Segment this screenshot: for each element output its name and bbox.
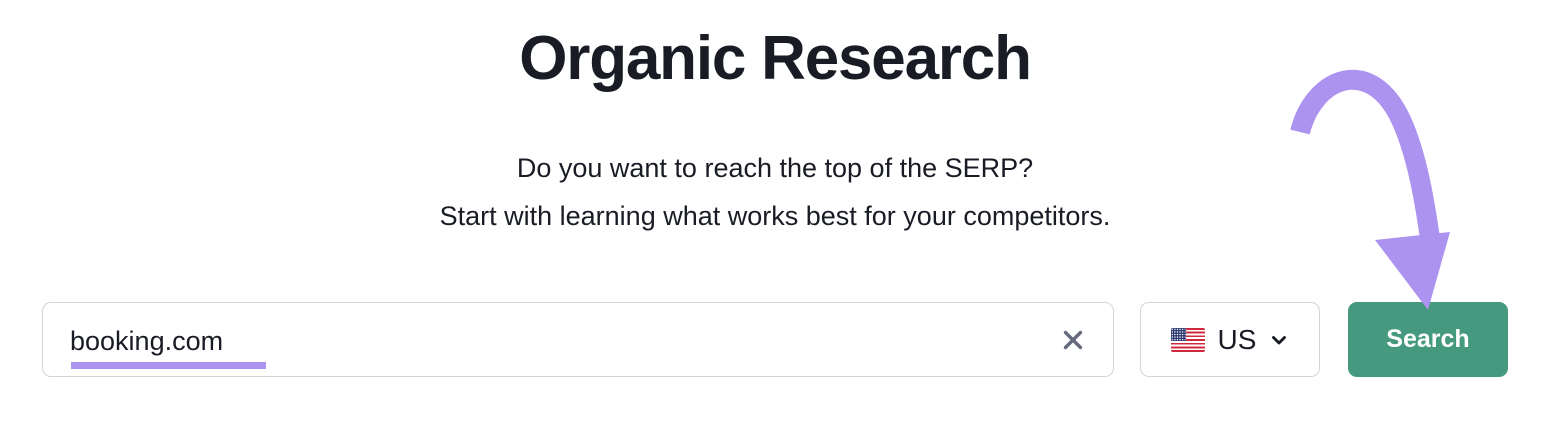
organic-research-search-panel: Organic Research Do you want to reach th… [0,0,1550,432]
search-input[interactable]: booking.com [42,302,1114,377]
page-subtitle: Do you want to reach the top of the SERP… [0,144,1550,240]
subtitle-line-1: Do you want to reach the top of the SERP… [0,144,1550,192]
close-icon[interactable] [1060,327,1086,353]
chevron-down-icon [1269,330,1289,350]
search-input-value: booking.com [70,324,223,358]
us-flag-icon [1171,328,1205,352]
subtitle-line-2: Start with learning what works best for … [0,192,1550,240]
search-button[interactable]: Search [1348,302,1508,377]
country-selector[interactable]: US [1140,302,1320,377]
country-selector-label: US [1218,324,1257,356]
search-input-highlight-underline [71,362,266,369]
page-title: Organic Research [0,22,1550,96]
search-row: booking.com US Search [42,302,1508,377]
search-value-wrap: booking.com [70,319,223,363]
